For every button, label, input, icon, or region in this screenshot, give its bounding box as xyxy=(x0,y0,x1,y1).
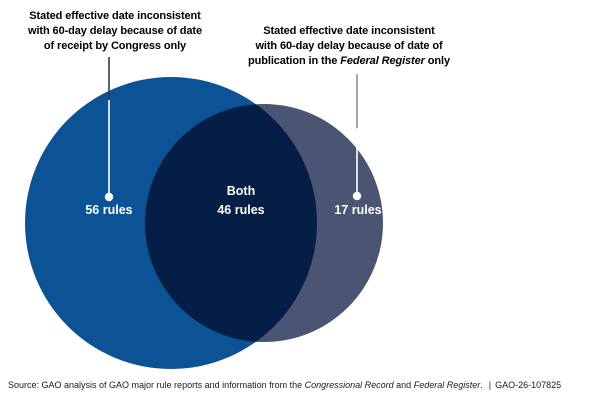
source-federal-register: Federal Register xyxy=(414,380,481,390)
venn-value-congress-receipt: 56 rules xyxy=(58,203,160,217)
source-separator: | xyxy=(483,379,495,391)
leader-dot-right xyxy=(353,192,361,200)
source-congressional-record: Congressional Record xyxy=(305,380,394,390)
source-note: Source: GAO analysis of GAO major rule r… xyxy=(8,379,592,391)
source-mid: and xyxy=(394,380,414,390)
venn-value-federal-register: 17 rules xyxy=(313,203,403,217)
venn-label-both: Both xyxy=(175,180,307,202)
source-prefix: Source: GAO analysis of GAO major rule r… xyxy=(8,380,305,390)
venn-figure: Stated effective date inconsistent with … xyxy=(0,0,600,402)
source-report-id: GAO-26-107825 xyxy=(495,380,561,390)
leader-dot-left xyxy=(105,193,113,201)
venn-value-both: 46 rules xyxy=(175,202,307,218)
venn-value-both-group: Both 46 rules xyxy=(175,180,307,218)
